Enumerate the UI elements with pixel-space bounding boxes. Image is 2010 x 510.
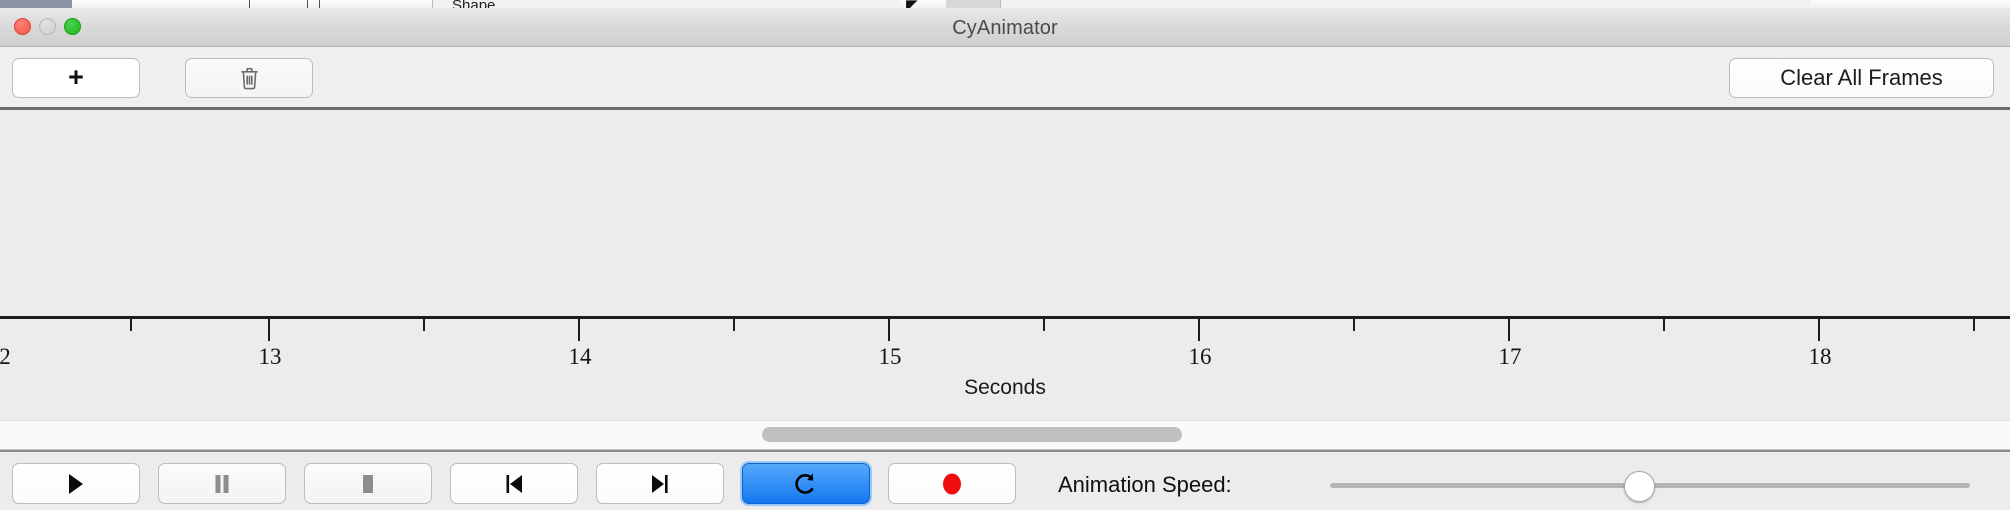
cyanimator-screen: | | | ◤ Shape CyAnimator + [0, 0, 2010, 510]
ruler-minor-tick [130, 319, 132, 331]
animation-speed-slider-thumb[interactable] [1624, 471, 1655, 502]
animation-speed-label: Animation Speed: [1058, 472, 1232, 498]
ruler-major-tick [888, 319, 890, 341]
axis-title: Seconds [0, 376, 2010, 400]
ruler-tick-label: 18 [1809, 344, 1832, 370]
pause-button[interactable] [158, 463, 286, 504]
ruler-tick-label: 13 [259, 344, 282, 370]
ruler-minor-tick [733, 319, 735, 331]
ruler-tick-label: 2 [0, 344, 11, 370]
ruler-major-tick [1508, 319, 1510, 341]
play-button[interactable] [12, 463, 140, 504]
record-icon [941, 471, 963, 497]
loop-icon [794, 471, 818, 497]
stop-icon [358, 472, 378, 496]
ruler-tick-label: 16 [1189, 344, 1212, 370]
skip-forward-icon [648, 472, 672, 496]
skip-back-icon [502, 472, 526, 496]
plus-icon: + [68, 64, 84, 91]
ruler-major-tick [1198, 319, 1200, 341]
play-icon [66, 472, 86, 496]
ruler-tick-label: 15 [879, 344, 902, 370]
ruler-minor-tick [1353, 319, 1355, 331]
skip-to-end-button[interactable] [596, 463, 724, 504]
skip-to-start-button[interactable] [450, 463, 578, 504]
playback-control-bar: Animation Speed: [0, 450, 2010, 510]
delete-frame-button[interactable] [185, 58, 313, 98]
frame-strip[interactable]: MCM1 [0, 110, 2010, 316]
timeline-scrollbar-track[interactable] [0, 420, 2010, 450]
cyanimator-window: CyAnimator + Clear All Frames [0, 8, 2010, 510]
pause-icon [212, 472, 232, 496]
ruler-major-tick [268, 319, 270, 341]
loop-button[interactable] [742, 463, 870, 504]
ruler-major-tick [1818, 319, 1820, 341]
stop-button[interactable] [304, 463, 432, 504]
window-titlebar: CyAnimator [0, 8, 2010, 47]
ruler-tick-label: 14 [569, 344, 592, 370]
ruler-baseline [0, 316, 2010, 319]
ruler-minor-tick [1973, 319, 1975, 331]
clear-all-frames-button[interactable]: Clear All Frames [1729, 58, 1994, 98]
ruler-major-tick [578, 319, 580, 341]
add-frame-button[interactable]: + [12, 58, 140, 98]
trash-icon [238, 65, 261, 91]
ruler-minor-tick [1043, 319, 1045, 331]
window-title: CyAnimator [0, 17, 2010, 40]
ruler-minor-tick [1663, 319, 1665, 331]
frame-toolbar: + Clear All Frames [0, 47, 2010, 110]
record-button[interactable] [888, 463, 1016, 504]
ruler-tick-label: 17 [1499, 344, 1522, 370]
ruler-minor-tick [423, 319, 425, 331]
timeline-scrollbar-thumb[interactable] [762, 427, 1182, 442]
timeline-ruler[interactable]: 2 13 14 15 16 17 18 Seconds [0, 316, 2010, 420]
